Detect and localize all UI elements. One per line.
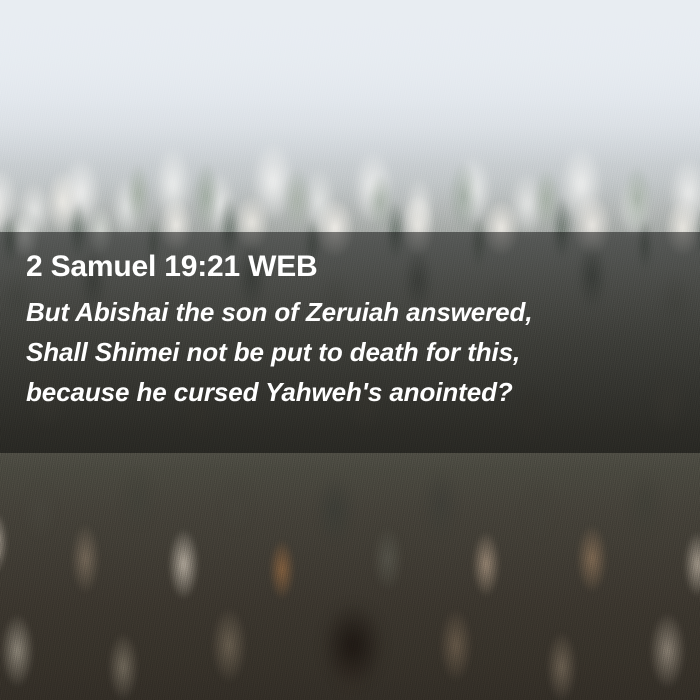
- verse-reference: 2 Samuel 19:21 WEB: [26, 248, 674, 286]
- verse-text-line: because he cursed Yahweh's anointed?: [26, 372, 674, 412]
- verse-text-line: But Abishai the son of Zeruiah answered,: [26, 292, 674, 332]
- verse-image-card: 2 Samuel 19:21 WEB But Abishai the son o…: [0, 0, 700, 700]
- verse-text: But Abishai the son of Zeruiah answered,…: [26, 292, 674, 412]
- verse-overlay-panel: 2 Samuel 19:21 WEB But Abishai the son o…: [0, 232, 700, 453]
- verse-text-line: Shall Shimei not be put to death for thi…: [26, 332, 674, 372]
